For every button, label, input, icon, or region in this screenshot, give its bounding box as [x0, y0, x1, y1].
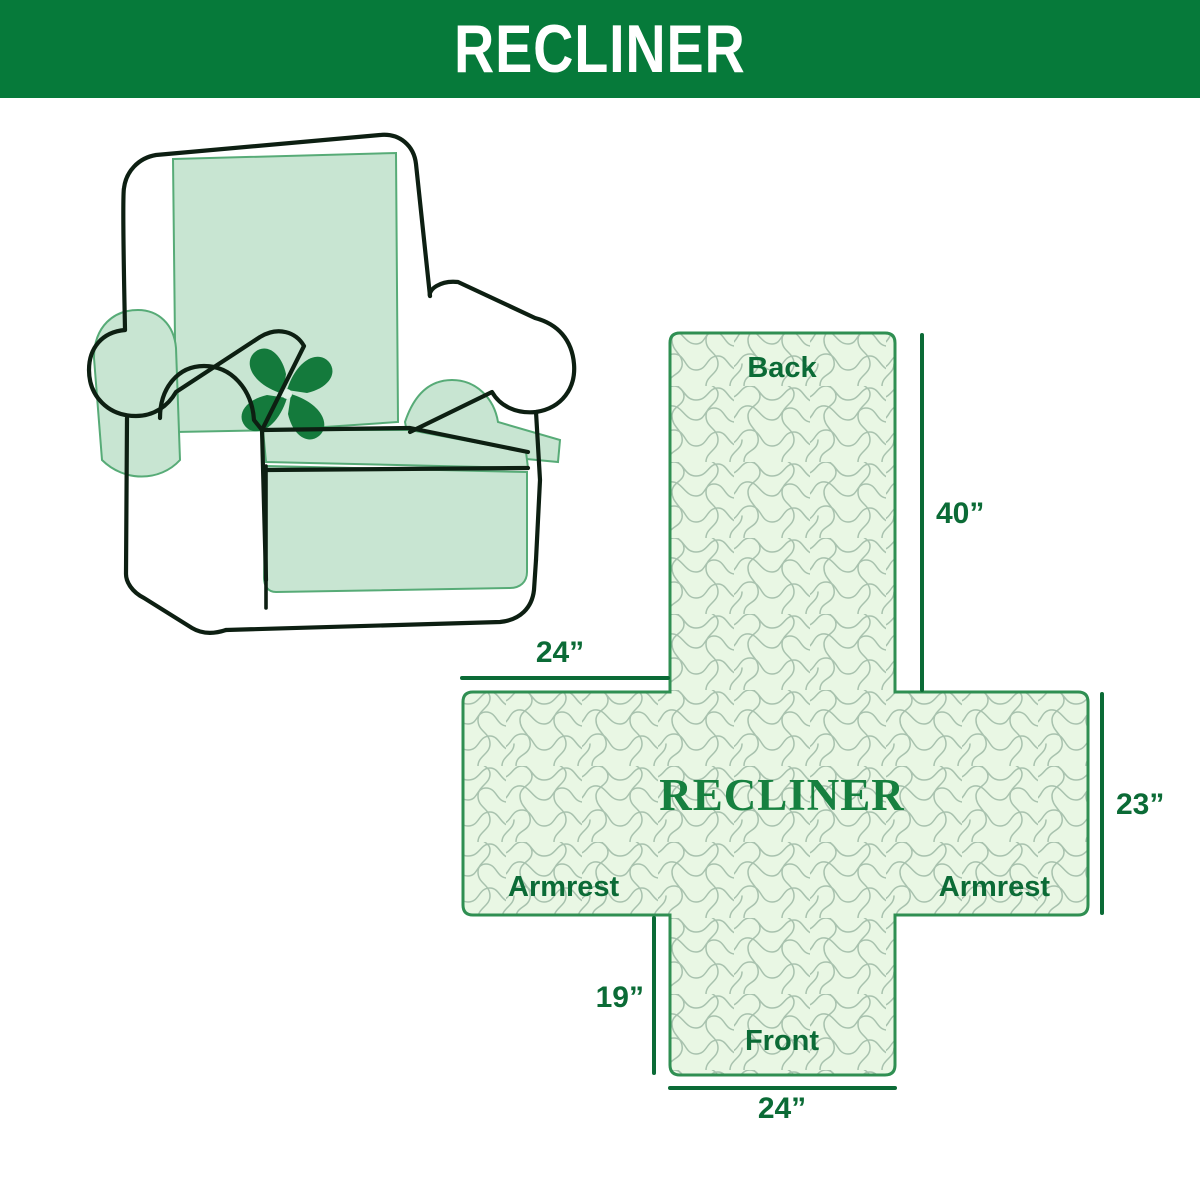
svg-text:24”: 24”	[758, 1092, 806, 1125]
dimension-armrest-width: 24”	[462, 636, 668, 678]
dimension-front-height: 19”	[596, 918, 654, 1073]
svg-text:24”: 24”	[536, 636, 584, 669]
cross-outline	[463, 333, 1088, 1075]
dimension-front-width: 24”	[670, 1088, 895, 1125]
dimension-back-height: 40”	[922, 335, 984, 690]
cross-pattern-shape	[463, 333, 1088, 1075]
pattern-center-label: RECLINER	[659, 770, 905, 820]
slipcover-pattern-diagram: Back Armrest Armrest Front RECLINER 40” …	[430, 310, 1200, 1130]
region-label-front: Front	[745, 1025, 819, 1057]
region-label-back: Back	[747, 352, 817, 384]
svg-text:23”: 23”	[1116, 788, 1164, 821]
svg-text:40”: 40”	[936, 497, 984, 530]
svg-text:19”: 19”	[596, 981, 644, 1014]
region-label-armrest-right: Armrest	[939, 871, 1051, 903]
header-banner: RECLINER	[0, 0, 1200, 98]
product-dimension-infographic: RECLINER	[0, 0, 1200, 1200]
page-title: RECLINER	[454, 15, 746, 83]
region-label-armrest-left: Armrest	[508, 871, 620, 903]
dimension-seat-depth: 23”	[1102, 694, 1164, 913]
